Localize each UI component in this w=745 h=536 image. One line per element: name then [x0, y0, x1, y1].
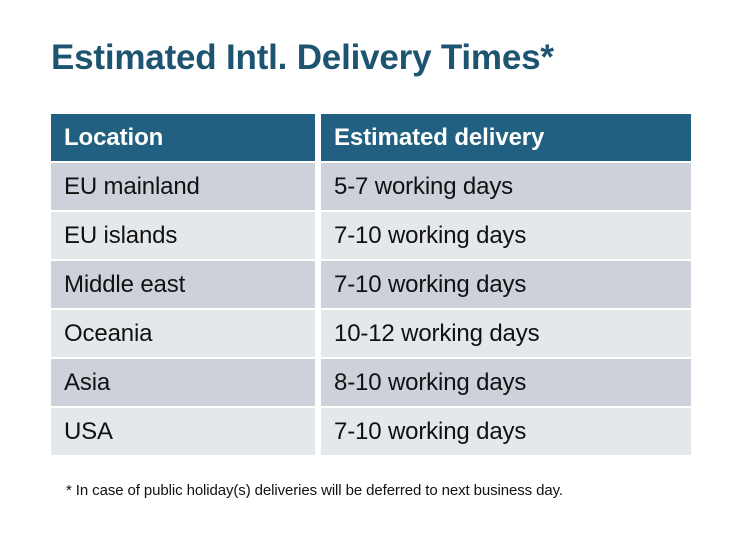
- cell-estimated-delivery: 5-7 working days: [321, 163, 691, 210]
- table-row: EU mainland 5-7 working days: [51, 163, 691, 210]
- table-row: USA 7-10 working days: [51, 408, 691, 455]
- cell-estimated-delivery: 7-10 working days: [321, 261, 691, 308]
- cell-estimated-delivery: 7-10 working days: [321, 408, 691, 455]
- cell-location: Asia: [51, 359, 315, 406]
- cell-estimated-delivery: 8-10 working days: [321, 359, 691, 406]
- cell-location: Middle east: [51, 261, 315, 308]
- delivery-times-table: Location Estimated delivery EU mainland …: [51, 114, 691, 455]
- table-header-row: Location Estimated delivery: [51, 114, 691, 161]
- cell-location: EU mainland: [51, 163, 315, 210]
- delivery-times-page: Estimated Intl. Delivery Times* Location…: [0, 0, 745, 536]
- cell-estimated-delivery: 7-10 working days: [321, 212, 691, 259]
- column-header-estimated-delivery: Estimated delivery: [321, 114, 691, 161]
- cell-estimated-delivery: 10-12 working days: [321, 310, 691, 357]
- cell-location: Oceania: [51, 310, 315, 357]
- cell-location: EU islands: [51, 212, 315, 259]
- page-title: Estimated Intl. Delivery Times*: [51, 37, 554, 79]
- table-row: Asia 8-10 working days: [51, 359, 691, 406]
- table-row: Oceania 10-12 working days: [51, 310, 691, 357]
- table-row: Middle east 7-10 working days: [51, 261, 691, 308]
- footnote-text: * In case of public holiday(s) deliverie…: [66, 481, 563, 501]
- cell-location: USA: [51, 408, 315, 455]
- column-header-location: Location: [51, 114, 315, 161]
- table-row: EU islands 7-10 working days: [51, 212, 691, 259]
